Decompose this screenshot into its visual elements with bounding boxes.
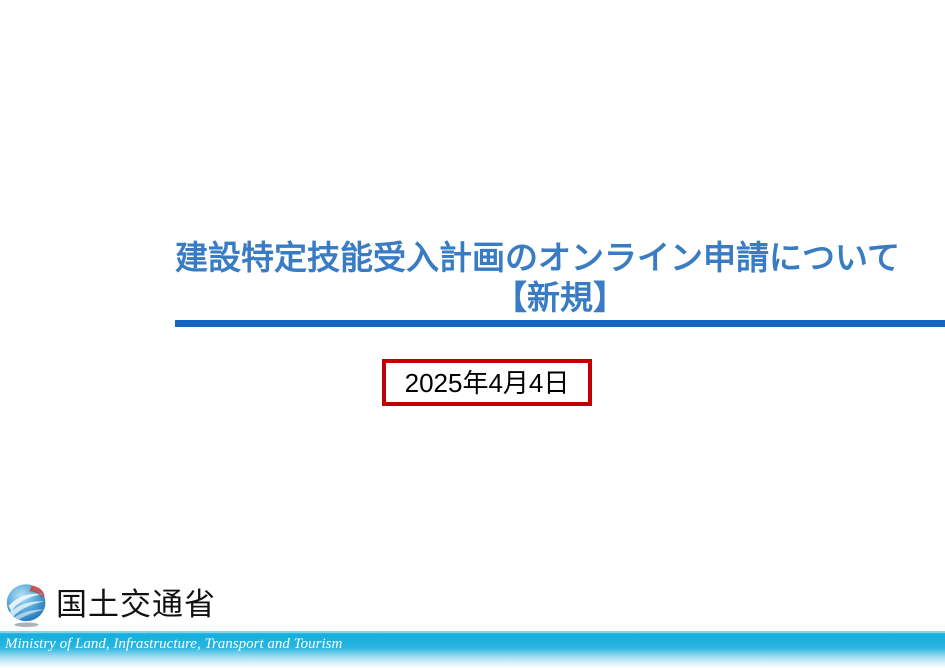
footer-band: Ministry of Land, Infrastructure, Transp… [0, 631, 945, 668]
ministry-name-jp: 国土交通省 [56, 590, 216, 621]
date-text: 2025年4月4日 [405, 370, 570, 396]
title-line-2: 【新規】 [175, 278, 945, 318]
page-title: 建設特定技能受入計画のオンライン申請について 【新規】 [175, 238, 945, 318]
footer-band-top-line [0, 631, 945, 633]
title-line-1: 建設特定技能受入計画のオンライン申請について [175, 238, 945, 278]
ministry-logo: 国土交通省 [0, 578, 216, 632]
title-underline-rule [175, 320, 945, 327]
presentation-slide: 建設特定技能受入計画のオンライン申請について 【新規】 2025年4月4日 [0, 0, 945, 668]
title-block: 建設特定技能受入計画のオンライン申請について 【新規】 [175, 238, 945, 318]
ministry-name-en: Ministry of Land, Infrastructure, Transp… [5, 635, 342, 653]
date-badge: 2025年4月4日 [382, 359, 592, 406]
mlit-swirl-logo-icon [4, 582, 50, 628]
